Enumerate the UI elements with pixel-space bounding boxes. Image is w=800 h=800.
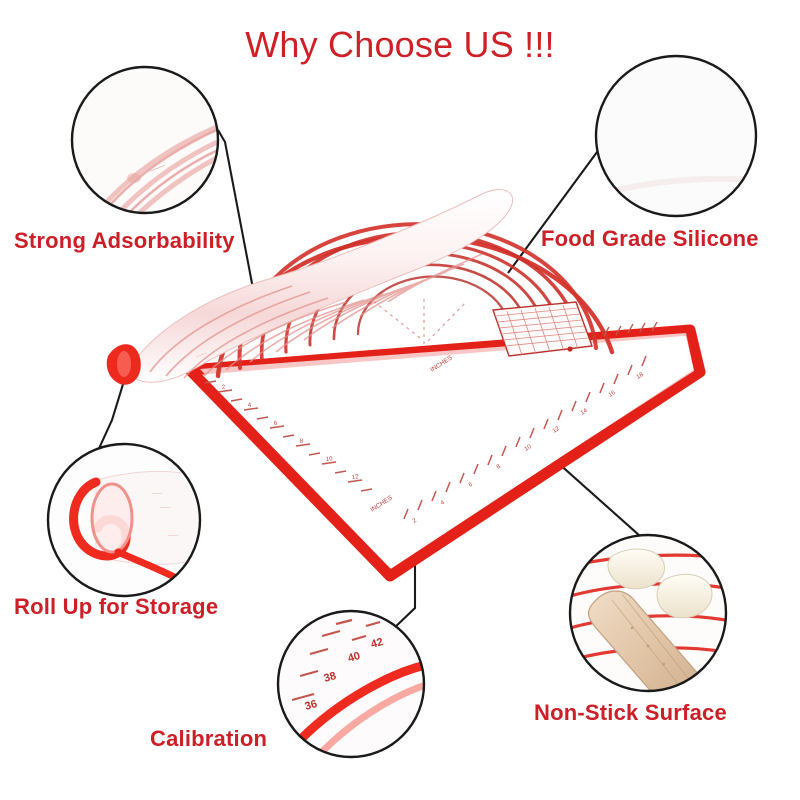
rolling-pin-dough-icon [570,535,726,714]
callout-calibration[interactable]: 36 38 40 42 [278,611,436,757]
callout-roll-up-for-storage[interactable]: ___ ___ ___ [48,444,214,596]
mat-radial-guides [372,296,466,344]
feature-label-roll-up-for-storage: Roll Up for Storage [14,594,218,620]
feature-label-food-grade-silicone: Food Grade Silicone [541,226,759,252]
svg-text:___: ___ [167,530,179,536]
infographic-canvas: 2 4 6 8 10 12 2 4 6 [0,0,800,800]
svg-text:12: 12 [352,474,360,481]
svg-text:10: 10 [326,456,334,463]
ruler-scale-icon: 36 38 40 42 [278,611,436,757]
page-title: Why Choose US !!! [0,24,800,66]
feature-label-calibration: Calibration [150,726,267,752]
conversion-table [493,302,592,356]
callout-food-grade-silicone[interactable] [596,56,756,216]
rolled-up-mat-icon: ___ ___ ___ [48,444,214,596]
leader-line-food-grade [508,148,600,273]
baking-mat: 2 4 6 8 10 12 2 4 6 [190,224,700,576]
svg-text:___: ___ [159,502,171,508]
product-illustration: 2 4 6 8 10 12 2 4 6 [0,0,800,800]
feature-label-strong-adsorbability: Strong Adsorbability [14,228,235,254]
callout-non-stick-surface[interactable] [570,535,726,714]
feature-label-non-stick-surface: Non-Stick Surface [534,700,727,726]
leader-line-adsorbability [218,130,255,299]
svg-text:___: ___ [151,488,163,494]
